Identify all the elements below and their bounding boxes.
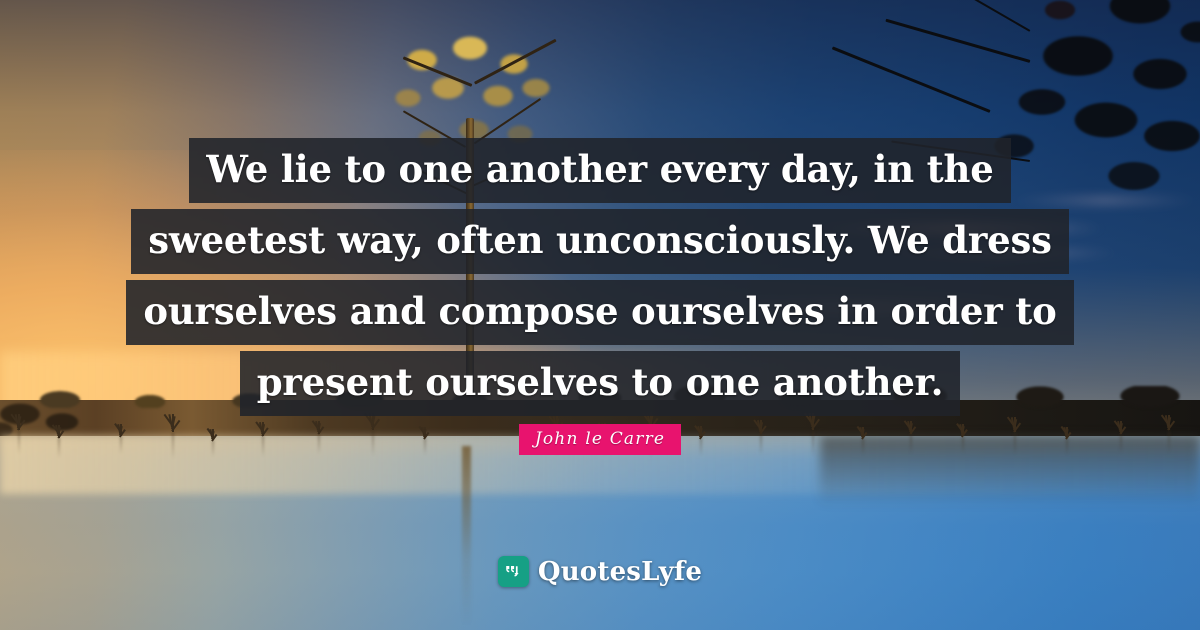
quote-line: We lie to one another every day, in the xyxy=(0,138,1200,203)
quote-line-3: ourselves and compose ourselves in order… xyxy=(126,280,1073,345)
quote-line: present ourselves to one another. xyxy=(0,351,1200,416)
author-name-badge[interactable]: John le Carre xyxy=(519,424,681,455)
tree-reflection xyxy=(462,446,471,626)
author-attribution: John le Carre xyxy=(0,424,1200,455)
quotation-mark-icon xyxy=(498,556,529,587)
quote-line: sweetest way, often unconsciously. We dr… xyxy=(0,209,1200,274)
brand-name: QuotesLyfe xyxy=(538,557,702,587)
quote-line-2: sweetest way, often unconsciously. We dr… xyxy=(131,209,1068,274)
quote-line: ourselves and compose ourselves in order… xyxy=(0,280,1200,345)
quote-line-1: We lie to one another every day, in the xyxy=(189,138,1010,203)
quote-card: We lie to one another every day, in the … xyxy=(0,0,1200,630)
quote-line-4: present ourselves to one another. xyxy=(240,351,961,416)
quote-text: We lie to one another every day, in the … xyxy=(0,138,1200,422)
brand-logo[interactable]: QuotesLyfe xyxy=(0,556,1200,587)
